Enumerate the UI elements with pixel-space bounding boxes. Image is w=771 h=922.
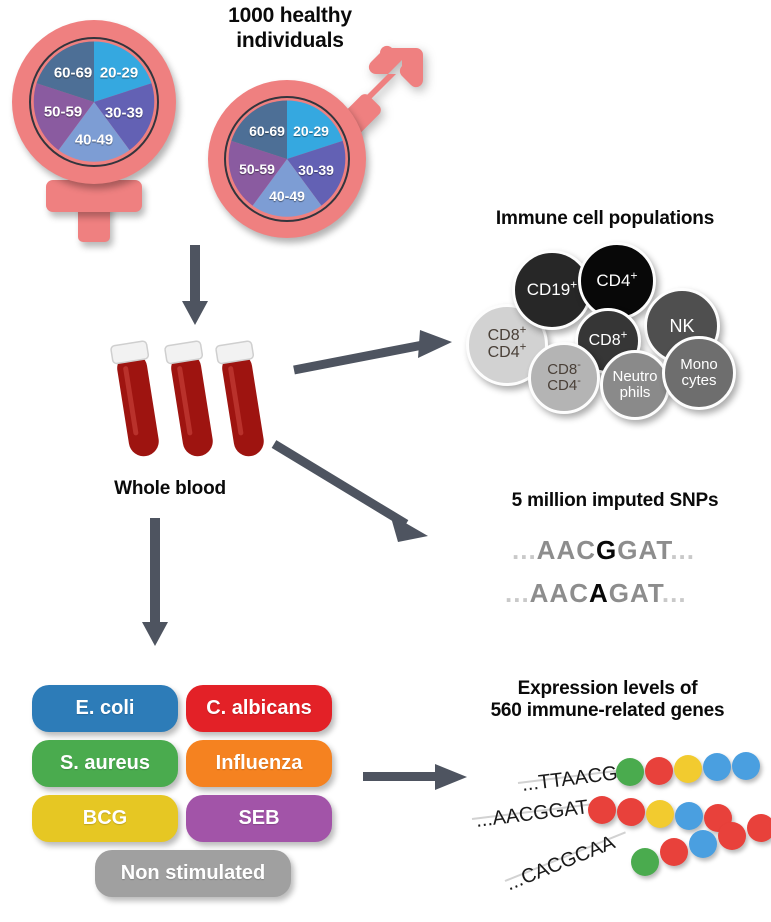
- arrow-blood-to-immune: [292, 330, 457, 380]
- strand-2-bead-1: [588, 796, 616, 824]
- arrow-cohort-to-blood: [178, 245, 212, 327]
- expression-strand-1: ...TTAACGG: [518, 760, 768, 800]
- strand-2-bead-3: [646, 800, 674, 828]
- cohort-title-line1: 1000 healthy: [180, 4, 400, 29]
- immune-cell-neutrophils: Neutrophils: [600, 350, 670, 420]
- strand-3-bead-3: [689, 830, 717, 858]
- male-age-label-20-29: 20-29: [293, 123, 329, 139]
- immune-cell-monocytes: Monocytes: [662, 336, 736, 410]
- stimulus-e-coli-label: E. coli: [76, 697, 135, 720]
- immune-cell-cd8n-cd4n: CD8- CD4-: [528, 342, 600, 414]
- female-age-label-30-39: 30-39: [105, 105, 143, 122]
- female-symbol: 20-29 30-39 40-49 50-59 60-69: [8, 12, 188, 242]
- snp-1-left: AAC: [537, 535, 596, 565]
- stimulus-bcg[interactable]: BCG: [32, 795, 178, 842]
- immune-cell-cd19p-label: CD19+: [527, 281, 578, 299]
- expression-title-line1: Expression levels of: [455, 678, 760, 700]
- strand-1-bead-4: [703, 753, 731, 781]
- stimulus-s-aureus-label: S. aureus: [60, 752, 150, 775]
- male-symbol: 20-29 30-39 40-49 50-59 60-69: [198, 28, 428, 248]
- strand-3-bead-5: [747, 814, 771, 842]
- expression-strand-3: ...CACGCAA: [505, 830, 771, 900]
- stimulus-non-stimulated-label: Non stimulated: [121, 862, 265, 885]
- male-age-label-30-39: 30-39: [298, 162, 334, 178]
- immune-cell-nk-label: NK: [669, 317, 694, 336]
- blood-caption: Whole blood: [80, 478, 260, 500]
- male-age-label-50-59: 50-59: [239, 161, 275, 177]
- stimulus-bcg-label: BCG: [83, 807, 127, 830]
- stimulus-influenza-label: Influenza: [216, 752, 303, 775]
- stimulus-e-coli[interactable]: E. coli: [32, 685, 178, 732]
- snps-title: 5 million imputed SNPs: [470, 490, 760, 512]
- immune-cell-monocytes-label: Monocytes: [680, 357, 718, 388]
- figure-canvas: 1000 healthy individuals 20-29 30-39 40-…: [0, 0, 771, 922]
- snp-2-prefix: ...: [505, 578, 530, 608]
- expression-title: Expression levels of 560 immune-related …: [455, 678, 760, 723]
- strand-1-bead-3: [674, 755, 702, 783]
- immune-cell-neutrophils-label: Neutrophils: [612, 369, 657, 400]
- snp-2-right: GAT: [609, 578, 662, 608]
- immune-cell-cd8p-label: CD8+: [589, 333, 628, 350]
- female-age-label-60-69: 60-69: [54, 65, 92, 82]
- strand-3-sequence: ...CACGCAA: [503, 832, 619, 897]
- strand-2-sequence: ...AACGGAT: [475, 796, 590, 833]
- snp-1-prefix: ...: [512, 535, 537, 565]
- snp-1-suffix: ...: [670, 535, 695, 565]
- stimulus-non-stimulated[interactable]: Non stimulated: [95, 850, 291, 897]
- female-age-label-50-59: 50-59: [44, 104, 82, 121]
- snp-sequence-row-2: ...AACAGAT...: [505, 578, 687, 609]
- stimulus-seb[interactable]: SEB: [186, 795, 332, 842]
- stimulus-c-albicans[interactable]: C. albicans: [186, 685, 332, 732]
- female-age-pie: 20-29 30-39 40-49 50-59 60-69: [29, 37, 159, 167]
- male-age-pie: 20-29 30-39 40-49 50-59 60-69: [224, 96, 350, 222]
- snp-2-left: AAC: [530, 578, 589, 608]
- strand-3-bead-1: [631, 848, 659, 876]
- immune-cell-cd4p-label: CD4+: [596, 272, 637, 290]
- snp-sequence-row-1: ...AACGGAT...: [512, 535, 695, 566]
- arrow-blood-to-stimuli: [138, 518, 172, 648]
- female-age-label-40-49: 40-49: [75, 132, 113, 149]
- snp-1-right: GAT: [617, 535, 670, 565]
- strand-3-bead-2: [660, 838, 688, 866]
- strand-1-bead-5: [732, 752, 760, 780]
- immune-cell-cd8p-cd4p-label: CD8+ CD4+: [488, 328, 527, 361]
- strand-2-bead-2: [617, 798, 645, 826]
- expression-title-line2: 560 immune-related genes: [455, 700, 760, 722]
- strand-2-bead-4: [675, 802, 703, 830]
- stimulus-c-albicans-label: C. albicans: [206, 697, 312, 720]
- male-age-label-60-69: 60-69: [249, 123, 285, 139]
- blood-tubes: [100, 335, 280, 475]
- female-stem-horizontal: [46, 180, 142, 212]
- arrow-blood-to-snps: [272, 440, 447, 555]
- stimulus-s-aureus[interactable]: S. aureus: [32, 740, 178, 787]
- stimulus-seb-label: SEB: [238, 807, 279, 830]
- stimulus-influenza[interactable]: Influenza: [186, 740, 332, 787]
- female-age-label-20-29: 20-29: [100, 65, 138, 82]
- immune-title: Immune cell populations: [455, 208, 755, 230]
- snp-1-variant: G: [596, 535, 617, 565]
- male-age-label-40-49: 40-49: [269, 188, 305, 204]
- snp-2-suffix: ...: [662, 578, 687, 608]
- strand-1-bead-1: [616, 758, 644, 786]
- arrow-stimuli-to-expression: [363, 760, 473, 794]
- strand-3-bead-4: [718, 822, 746, 850]
- strand-1-bead-2: [645, 757, 673, 785]
- immune-cell-cd8n-cd4n-label: CD8- CD4-: [547, 362, 581, 393]
- snp-2-variant: A: [589, 578, 609, 608]
